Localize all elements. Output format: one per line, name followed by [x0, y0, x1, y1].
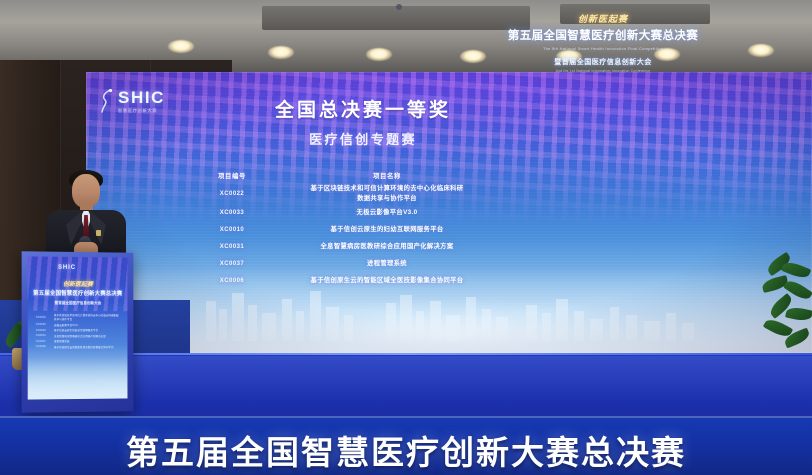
- event-secondary-english: And the 1st National Information Innovat…: [487, 69, 719, 73]
- table-row: XC0031全息智慧病房医教研综合应用国产化解决方案: [195, 239, 505, 255]
- winners-table: 项目编号 项目名称 XC0022基于区块链技术和可信计算环境的去中心化临床科研数…: [195, 171, 505, 290]
- downlight: [748, 44, 774, 57]
- podium-table: XC0022基于区块链技术和可信计算环境的去中心化临床科研数据共享与协作平台XC…: [36, 313, 120, 350]
- podium-cell-name: 基于信创原生云的智能区域全医技影像集合协同平台: [54, 344, 120, 348]
- event-secondary-title: 暨首届全国医疗信息创新大会: [487, 57, 719, 67]
- podium-cell-code: XC0022: [36, 315, 51, 318]
- downlight: [168, 40, 194, 53]
- cell-project-name: 基于区块链技术和可信计算环境的去中心化临床科研数据共享与协作平台: [269, 184, 505, 204]
- downlight: [268, 46, 294, 59]
- cell-project-name: 无极云影像平台V3.0: [269, 208, 505, 218]
- column-header-name: 项目名称: [269, 171, 505, 180]
- slide-title: 全国总决赛一等奖: [0, 95, 726, 122]
- table-row: XC0022基于区块链技术和可信计算环境的去中心化临床科研数据共享与协作平台: [195, 184, 505, 204]
- speaker-lapel-badge: [96, 230, 101, 236]
- podium: SHIC 创新医起赛 第五届全国智慧医疗创新大赛总决赛 暨首届全国医疗信息创新大…: [22, 251, 134, 413]
- cell-project-code: XC0037: [195, 261, 269, 267]
- slide-subtitle: 医疗信创专题赛: [0, 129, 726, 148]
- potted-plant-right: [762, 258, 812, 366]
- table-header-row: 项目编号 项目名称: [195, 171, 505, 184]
- downlight: [366, 48, 392, 61]
- cell-project-name: 基于信创云原生的妇幼互联网服务平台: [269, 225, 505, 235]
- podium-table-row: XC0010基于信创云原生的妇幼互联网服务平台: [36, 328, 120, 332]
- table-row: XC0010基于信创云原生的妇幼互联网服务平台: [195, 222, 505, 238]
- stage-banner: 第五届全国智慧医疗创新大赛总决赛: [0, 416, 812, 475]
- podium-secondary-title: 暨首届全国医疗信息创新大会: [28, 301, 128, 306]
- cell-project-name: 进程管理系统: [269, 259, 505, 269]
- cell-project-code: XC0033: [195, 210, 269, 216]
- podium-table-row: XC0006基于信创原生云的智能区域全医技影像集合协同平台: [36, 344, 120, 348]
- podium-cell-code: XC0006: [36, 345, 51, 348]
- table-row: XC0033无极云影像平台V3.0: [195, 205, 505, 221]
- podium-cell-code: XC0037: [36, 340, 51, 343]
- leaf: [785, 305, 812, 322]
- podium-logo: SHIC: [58, 265, 76, 271]
- downlight: [460, 50, 486, 63]
- podium-table-row: XC0033无极云影像平台V3.0: [36, 322, 120, 326]
- cell-project-code: XC0010: [195, 227, 269, 233]
- cell-project-code: XC0022: [195, 191, 269, 197]
- podium-script-logo: 创新医起赛: [28, 279, 128, 289]
- podium-cell-code: XC0010: [36, 328, 51, 331]
- podium-cell-name: 全息智慧病房医教研综合应用国产化解决方案: [54, 333, 120, 337]
- podium-main-title: 第五届全国智慧医疗创新大赛总决赛: [28, 289, 128, 298]
- cell-project-code: XC0031: [195, 244, 269, 250]
- stage-photo-scene: SHIC 智慧医疗创新大赛 全国总决赛一等奖 医疗信创专题赛 创新医起赛 第五届…: [0, 0, 812, 475]
- podium-cell-name: 进程管理系统: [54, 339, 120, 343]
- ceiling-fixture-icon: [396, 4, 402, 10]
- podium-table-row: XC0037进程管理系统: [36, 339, 120, 343]
- stage-banner-text: 第五届全国智慧医疗创新大赛总决赛: [126, 426, 686, 474]
- cell-project-name: 全息智慧病房医教研综合应用国产化解决方案: [269, 242, 505, 252]
- event-script-logo: 创新医起赛: [487, 12, 719, 25]
- podium-cell-code: XC0033: [36, 323, 51, 326]
- podium-skyline-glow: [28, 357, 128, 400]
- table-row: XC0006基于信创原生云的智能区域全医技影像集合协同平台: [195, 273, 505, 289]
- podium-cell-name: 无极云影像平台V3.0: [54, 322, 120, 326]
- table-row: XC0037进程管理系统: [195, 256, 505, 272]
- event-english-title: The 5th National Smart Health Innovation…: [487, 46, 719, 51]
- cell-project-name: 基于信创原生云的智能区域全医技影像集合协同平台: [269, 276, 505, 286]
- column-header-code: 项目编号: [195, 171, 269, 180]
- event-main-title: 第五届全国智慧医疗创新大赛总决赛: [487, 27, 719, 43]
- podium-graphic-panel: SHIC 创新医起赛 第五届全国智慧医疗创新大赛总决赛 暨首届全国医疗信息创新大…: [28, 256, 128, 399]
- podium-table-row: XC0031全息智慧病房医教研综合应用国产化解决方案: [36, 333, 120, 337]
- event-branding-block: 创新医起赛 第五届全国智慧医疗创新大赛总决赛 The 5th National …: [487, 12, 719, 73]
- podium-cell-name: 基于信创云原生的妇幼互联网服务平台: [54, 328, 120, 332]
- cell-project-code: XC0006: [195, 278, 269, 284]
- podium-cell-code: XC0031: [36, 334, 51, 337]
- table-body: XC0022基于区块链技术和可信计算环境的去中心化临床科研数据共享与协作平台XC…: [195, 184, 505, 289]
- podium-cell-name: 基于区块链技术和可信计算环境的去中心化临床科研数据共享与协作平台: [54, 313, 120, 321]
- podium-table-row: XC0022基于区块链技术和可信计算环境的去中心化临床科研数据共享与协作平台: [36, 313, 120, 321]
